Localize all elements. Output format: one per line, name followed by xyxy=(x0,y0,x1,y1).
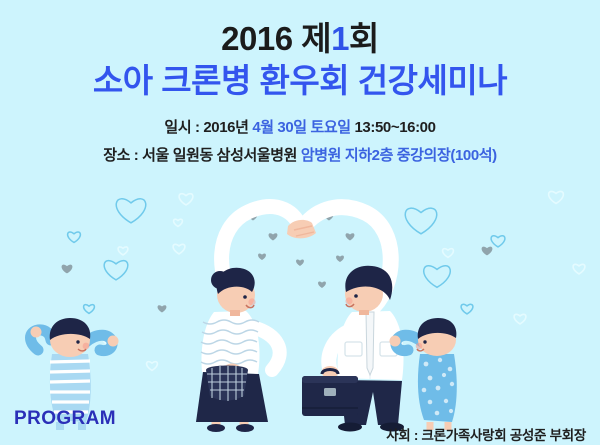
briefcase-icon xyxy=(302,370,358,417)
event-venue-label: 장소 : 서울 일원동 삼성서울병원 xyxy=(103,147,297,164)
event-venue-accent: 암병원 지하2층 중강의장(100석) xyxy=(301,147,497,164)
host-label: 사회 : 크론가족사랑회 공성준 부회장 xyxy=(386,424,586,444)
event-datetime-label: 일시 : 2016년 xyxy=(164,119,248,136)
page-title-line-2: 소아 크론병 환우회 건강세미나 xyxy=(0,63,600,99)
event-venue-line: 장소 : 서울 일원동 삼성서울병원 암병원 지하2층 중강의장(100석) xyxy=(0,144,600,165)
page-title-accent-number: 1 xyxy=(331,20,349,57)
mother-figure xyxy=(196,268,280,432)
seminar-poster: 2016 제1회 소아 크론병 환우회 건강세미나 일시 : 2016년 4월 … xyxy=(0,0,600,445)
event-datetime-line: 일시 : 2016년 4월 30일 토요일 13:50~16:00 xyxy=(0,116,600,137)
page-title-suffix: 회 xyxy=(349,20,379,57)
header-block: 2016 제1회 소아 크론병 환우회 건강세미나 일시 : 2016년 4월 … xyxy=(0,0,600,165)
doctor-figure xyxy=(302,266,404,432)
family-illustration xyxy=(0,182,600,432)
program-label: PROGRAM xyxy=(14,408,116,430)
page-title-prefix: 2016 제 xyxy=(221,20,331,57)
event-time: 13:50~16:00 xyxy=(354,119,435,136)
event-date-accent: 4월 30일 토요일 xyxy=(252,119,350,136)
page-title-line-1: 2016 제1회 xyxy=(0,22,600,57)
